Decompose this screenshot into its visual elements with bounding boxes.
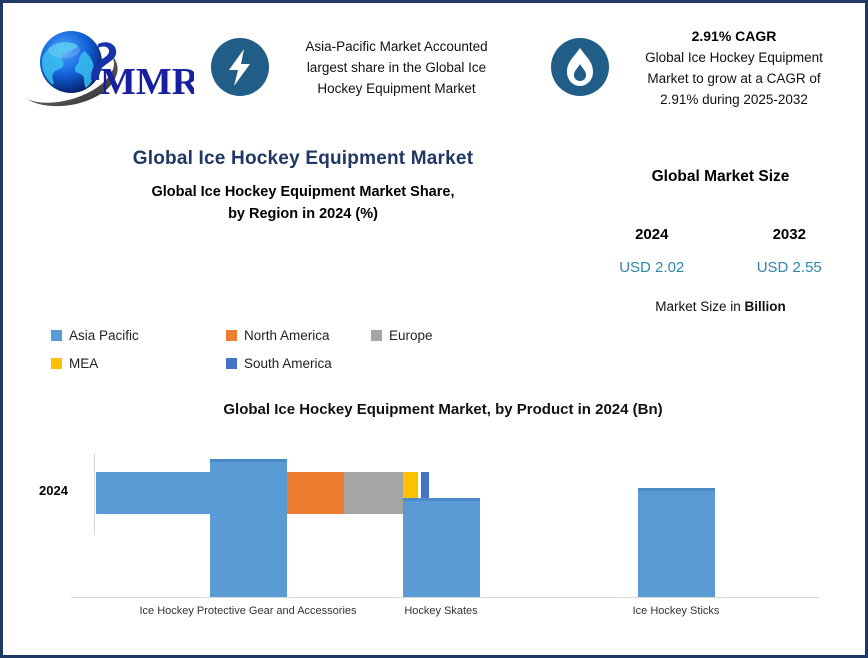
product-chart: Ice Hockey Protective Gear and Accessori… [43,433,833,633]
legend-swatch-europe [371,330,382,341]
globe-icon: MMR [24,24,194,108]
legend-swatch-asia-pacific [51,330,62,341]
legend-item-asia-pacific[interactable]: Asia Pacific [51,328,226,343]
header-card-cagr-text: 2.91% CAGR Global Ice Hockey Equipment M… [617,26,851,110]
legend-item-mea[interactable]: MEA [51,356,226,371]
legend-label-mea: MEA [69,356,98,371]
market-size-year-2032: 2032 [721,226,859,243]
market-size-panel: Global Market Size [583,168,858,186]
lightning-bolt-icon [211,38,269,96]
svg-text:MMR: MMR [100,61,194,103]
product-chart-title: Global Ice Hockey Equipment Market, by P… [63,401,823,418]
region-chart-title-line-2: by Region in 2024 (%) [63,203,543,225]
market-size-value-2024: USD 2.02 [583,259,721,276]
product-bar-label: Hockey Skates [341,605,541,617]
legend-label-europe: Europe [389,328,433,343]
legend-label-north-america: North America [244,328,330,343]
header-card-share-line-1: Asia-Pacific Market Accounted [277,36,516,57]
market-size-value-2032: USD 2.55 [721,259,859,276]
header: MMR Asia-Pacific Market Accounted larges… [6,6,868,128]
region-share-chart: 2024 [3,225,563,315]
header-card-cagr-line-3: 2.91% during 2025-2032 [617,89,851,110]
legend-row-2: MEA South America [51,349,481,377]
header-card-cagr: 2.91% CAGR Global Ice Hockey Equipment M… [551,24,851,112]
legend-swatch-south-america [226,358,237,369]
market-size-title: Global Market Size [583,168,858,186]
header-card-share-line-3: Hockey Equipment Market [277,78,516,99]
market-size-note-unit: Billion [745,299,786,314]
legend-label-south-america: South America [244,356,332,371]
product-bar-label: Ice Hockey Sticks [576,605,776,617]
region-chart-title-line-1: Global Ice Hockey Equipment Market Share… [63,181,543,203]
product-bar[interactable] [403,498,480,597]
header-card-cagr-line-1: Global Ice Hockey Equipment [617,47,851,68]
region-chart-title: Global Ice Hockey Equipment Market Share… [63,181,543,225]
legend-item-north-america[interactable]: North America [226,328,371,343]
cagr-heading: 2.91% CAGR [617,26,851,47]
market-size-year-2024: 2024 [583,226,721,243]
legend-row-1: Asia Pacific North America Europe [51,321,481,349]
market-size-values: USD 2.02 USD 2.55 [583,259,858,276]
legend-item-south-america[interactable]: South America [226,356,371,371]
header-card-share: Asia-Pacific Market Accounted largest sh… [211,24,516,112]
legend-label-asia-pacific: Asia Pacific [69,328,139,343]
legend-swatch-mea [51,358,62,369]
market-size-note-prefix: Market Size in [655,299,744,314]
market-size-years: 2024 2032 [583,226,858,243]
header-card-cagr-line-2: Market to grow at a CAGR of [617,68,851,89]
product-bar[interactable] [638,488,715,598]
product-bar[interactable] [210,459,287,597]
header-card-share-text: Asia-Pacific Market Accounted largest sh… [277,36,516,99]
region-chart-legend: Asia Pacific North America Europe MEA So… [51,321,481,377]
infographic-frame: MMR Asia-Pacific Market Accounted larges… [0,0,868,658]
legend-swatch-north-america [226,330,237,341]
flame-icon [551,38,609,96]
market-size-note: Market Size in Billion [583,299,858,314]
product-chart-baseline [71,597,819,598]
page-title: Global Ice Hockey Equipment Market [63,148,543,170]
mmr-logo: MMR [24,24,194,108]
header-card-share-line-2: largest share in the Global Ice [277,57,516,78]
legend-item-europe[interactable]: Europe [371,328,433,343]
